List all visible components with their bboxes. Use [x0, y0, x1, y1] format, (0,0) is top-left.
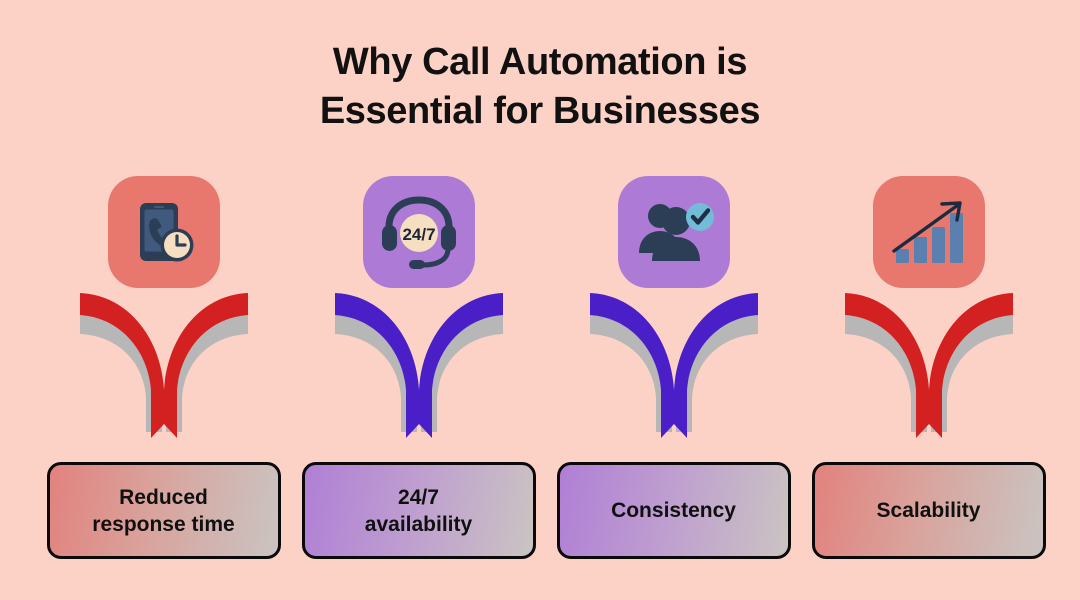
icon-tile-phone-clock	[108, 176, 220, 288]
icon-tile-headset-24-7: 24/7	[363, 176, 475, 288]
benefit-label-text: Scalability	[869, 497, 989, 524]
funnel-connector-2	[331, 290, 507, 450]
icon-tile-users-verified	[618, 176, 730, 288]
benefit-label-box-availability-24-7[interactable]: 24/7 availability	[302, 462, 536, 559]
benefit-label-box-consistency[interactable]: Consistency	[557, 462, 791, 559]
infographic-canvas: Why Call Automation is Essential for Bus…	[0, 0, 1080, 600]
growth-chart-icon	[890, 197, 968, 267]
benefit-columns: Reduced response time	[0, 0, 1080, 600]
headset-badge-text: 24/7	[402, 225, 435, 244]
icon-tile-growth-chart	[873, 176, 985, 288]
funnel-connector-3	[586, 290, 762, 450]
benefit-column-availability-24-7[interactable]: 24/7 24/7 availability	[291, 0, 546, 600]
benefit-label-box-scalability[interactable]: Scalability	[812, 462, 1046, 559]
benefit-label-text: Consistency	[603, 497, 744, 524]
benefit-column-scalability[interactable]: Scalability	[801, 0, 1056, 600]
benefit-label-box-reduced-response-time[interactable]: Reduced response time	[47, 462, 281, 559]
benefit-column-reduced-response-time[interactable]: Reduced response time	[36, 0, 291, 600]
users-verified-icon	[634, 199, 714, 265]
funnel-connector-1	[76, 290, 252, 450]
headset-24-7-icon: 24/7	[379, 195, 459, 269]
benefit-label-text: Reduced response time	[84, 484, 242, 538]
funnel-connector-4	[841, 290, 1017, 450]
benefit-column-consistency[interactable]: Consistency	[546, 0, 801, 600]
benefit-label-text: 24/7 availability	[357, 484, 480, 538]
phone-clock-icon	[127, 195, 201, 269]
